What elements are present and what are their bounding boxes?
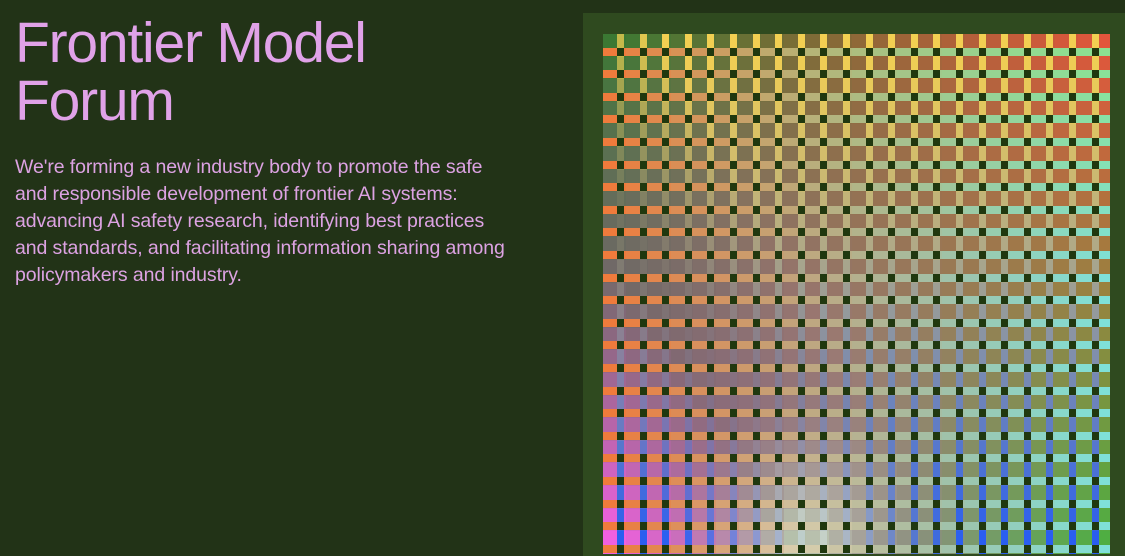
weave-horizontal-stripe — [1100, 93, 1110, 101]
weave-intersection — [640, 183, 647, 191]
weave-intersection — [707, 319, 714, 327]
weave-intersection — [1024, 93, 1031, 101]
weave-intersection — [640, 500, 647, 508]
weave-intersection — [730, 70, 737, 78]
weave-intersection — [1069, 70, 1076, 78]
weave-intersection — [798, 206, 805, 214]
weave-intersection — [933, 387, 940, 395]
weave-intersection — [662, 48, 669, 56]
weave-intersection — [866, 251, 873, 259]
weave-intersection — [798, 432, 805, 440]
weave-intersection — [1092, 454, 1099, 462]
weave-intersection — [979, 161, 986, 169]
weave-intersection — [775, 364, 782, 372]
weave-intersection — [1092, 477, 1099, 485]
weave-intersection — [730, 387, 737, 395]
weave-intersection — [662, 296, 669, 304]
weave-intersection — [888, 138, 895, 146]
weave-intersection — [798, 183, 805, 191]
weave-intersection — [685, 183, 692, 191]
weave-intersection — [753, 477, 760, 485]
weave-intersection — [1046, 70, 1053, 78]
weave-intersection — [662, 477, 669, 485]
weave-intersection — [640, 545, 647, 553]
weave-intersection — [640, 296, 647, 304]
hero-text-column: Frontier Model Forum We're forming a new… — [0, 0, 583, 556]
weave-intersection — [911, 409, 918, 417]
weave-intersection — [685, 387, 692, 395]
weave-intersection — [640, 387, 647, 395]
weave-intersection — [843, 545, 850, 553]
weave-intersection — [1024, 500, 1031, 508]
weave-intersection — [1001, 364, 1008, 372]
weave-intersection — [1046, 274, 1053, 282]
weave-intersection — [730, 93, 737, 101]
weave-intersection — [730, 138, 737, 146]
weave-intersection — [1024, 138, 1031, 146]
weave-intersection — [753, 341, 760, 349]
weave-intersection — [933, 319, 940, 327]
weave-intersection — [753, 251, 760, 259]
weave-intersection — [662, 364, 669, 372]
weave-intersection — [662, 319, 669, 327]
weave-intersection — [979, 48, 986, 56]
weave-intersection — [1069, 206, 1076, 214]
weave-intersection — [956, 183, 963, 191]
weave-intersection — [888, 206, 895, 214]
weave-horizontal-stripe — [1100, 432, 1110, 440]
weave-intersection — [843, 228, 850, 236]
weave-intersection — [820, 341, 827, 349]
weave-intersection — [888, 319, 895, 327]
weave-intersection — [933, 228, 940, 236]
weave-intersection — [1092, 364, 1099, 372]
weave-intersection — [820, 364, 827, 372]
weave-intersection — [662, 522, 669, 530]
page-root: Frontier Model Forum We're forming a new… — [0, 0, 1125, 556]
weave-intersection — [775, 387, 782, 395]
weave-intersection — [640, 522, 647, 530]
weave-intersection — [730, 319, 737, 327]
weave-intersection — [933, 70, 940, 78]
weave-intersection — [979, 545, 986, 553]
weave-intersection — [843, 319, 850, 327]
weave-intersection — [730, 364, 737, 372]
weave-intersection — [911, 522, 918, 530]
weave-intersection — [1046, 432, 1053, 440]
weave-intersection — [1069, 319, 1076, 327]
weave-intersection — [1092, 500, 1099, 508]
weave-horizontal-stripe — [1100, 296, 1110, 304]
weave-intersection — [1046, 409, 1053, 417]
weave-intersection — [1046, 296, 1053, 304]
weave-intersection — [843, 522, 850, 530]
weave-intersection — [888, 454, 895, 462]
weave-intersection — [1046, 522, 1053, 530]
weave-intersection — [617, 387, 624, 395]
weave-intersection — [1092, 115, 1099, 123]
weave-intersection — [820, 93, 827, 101]
weave-intersection — [640, 319, 647, 327]
weave-intersection — [1024, 364, 1031, 372]
weave-intersection — [1001, 454, 1008, 462]
weave-intersection — [956, 319, 963, 327]
weave-intersection — [617, 183, 624, 191]
weave-intersection — [730, 545, 737, 553]
weave-intersection — [911, 364, 918, 372]
weave-intersection — [775, 500, 782, 508]
weave-intersection — [617, 138, 624, 146]
weave-intersection — [979, 115, 986, 123]
weave-intersection — [1024, 296, 1031, 304]
weave-intersection — [617, 70, 624, 78]
artwork-panel — [583, 13, 1125, 556]
weave-intersection — [775, 251, 782, 259]
weave-intersection — [753, 115, 760, 123]
weave-intersection — [956, 341, 963, 349]
weave-intersection — [640, 477, 647, 485]
weave-intersection — [1024, 183, 1031, 191]
weave-intersection — [753, 319, 760, 327]
weave-intersection — [707, 228, 714, 236]
weave-intersection — [685, 409, 692, 417]
weave-intersection — [730, 522, 737, 530]
weave-intersection — [911, 387, 918, 395]
weave-intersection — [640, 409, 647, 417]
weave-horizontal-stripe — [1100, 387, 1110, 395]
weave-intersection — [1024, 522, 1031, 530]
weave-intersection — [798, 228, 805, 236]
weave-intersection — [707, 477, 714, 485]
weave-intersection — [1069, 409, 1076, 417]
weave-intersection — [730, 477, 737, 485]
weave-intersection — [1092, 409, 1099, 417]
weave-intersection — [1046, 161, 1053, 169]
weave-intersection — [1024, 251, 1031, 259]
weave-intersection — [1001, 432, 1008, 440]
weave-horizontal-stripe — [1100, 409, 1110, 417]
weave-intersection — [662, 500, 669, 508]
weave-intersection — [1069, 432, 1076, 440]
weave-intersection — [888, 364, 895, 372]
weave-intersection — [866, 432, 873, 440]
weave-intersection — [798, 251, 805, 259]
weave-intersection — [640, 228, 647, 236]
weave-intersection — [617, 364, 624, 372]
weave-intersection — [640, 70, 647, 78]
weave-intersection — [1001, 296, 1008, 304]
weave-intersection — [1092, 48, 1099, 56]
weave-intersection — [1046, 500, 1053, 508]
weave-intersection — [798, 70, 805, 78]
weave-intersection — [820, 70, 827, 78]
weave-intersection — [979, 251, 986, 259]
weave-intersection — [979, 274, 986, 282]
weave-intersection — [685, 545, 692, 553]
weave-intersection — [730, 409, 737, 417]
weave-intersection — [956, 161, 963, 169]
weave-intersection — [775, 48, 782, 56]
weave-intersection — [866, 364, 873, 372]
weave-intersection — [956, 545, 963, 553]
weave-intersection — [685, 48, 692, 56]
weave-intersection — [1092, 522, 1099, 530]
weave-intersection — [753, 183, 760, 191]
weave-intersection — [843, 93, 850, 101]
weave-intersection — [933, 183, 940, 191]
weave-intersection — [640, 251, 647, 259]
weave-intersection — [933, 274, 940, 282]
weave-intersection — [707, 522, 714, 530]
weave-intersection — [1001, 251, 1008, 259]
weave-intersection — [1001, 409, 1008, 417]
weave-intersection — [1001, 70, 1008, 78]
weave-intersection — [798, 93, 805, 101]
weave-intersection — [1024, 274, 1031, 282]
weave-intersection — [888, 183, 895, 191]
weave-intersection — [730, 500, 737, 508]
weave-intersection — [888, 228, 895, 236]
weave-intersection — [662, 206, 669, 214]
weave-intersection — [1069, 183, 1076, 191]
weave-intersection — [640, 161, 647, 169]
weave-intersection — [775, 319, 782, 327]
weave-intersection — [956, 206, 963, 214]
weave-intersection — [866, 206, 873, 214]
weave-intersection — [820, 454, 827, 462]
weave-intersection — [820, 251, 827, 259]
weave-intersection — [888, 251, 895, 259]
weave-intersection — [617, 206, 624, 214]
weave-intersection — [820, 183, 827, 191]
weave-intersection — [888, 296, 895, 304]
weave-intersection — [640, 454, 647, 462]
weave-intersection — [775, 206, 782, 214]
weave-intersection — [707, 545, 714, 553]
weave-intersection — [1069, 274, 1076, 282]
weave-intersection — [662, 183, 669, 191]
weave-intersection — [1046, 387, 1053, 395]
weave-intersection — [1069, 48, 1076, 56]
weave-intersection — [685, 251, 692, 259]
weave-intersection — [753, 500, 760, 508]
weave-intersection — [888, 161, 895, 169]
weave-intersection — [707, 206, 714, 214]
weave-intersection — [956, 500, 963, 508]
weave-intersection — [843, 206, 850, 214]
weave-intersection — [1046, 228, 1053, 236]
weave-horizontal-stripe — [1100, 341, 1110, 349]
weave-intersection — [1069, 251, 1076, 259]
weave-intersection — [1092, 274, 1099, 282]
weave-intersection — [1092, 138, 1099, 146]
weave-intersection — [956, 70, 963, 78]
weave-intersection — [798, 545, 805, 553]
weave-intersection — [707, 500, 714, 508]
weave-intersection — [956, 409, 963, 417]
weave-intersection — [866, 454, 873, 462]
weave-intersection — [685, 93, 692, 101]
weave-intersection — [956, 274, 963, 282]
weave-intersection — [662, 70, 669, 78]
weave-horizontal-stripe — [1100, 251, 1110, 259]
weave-intersection — [640, 432, 647, 440]
weave-intersection — [662, 409, 669, 417]
weave-intersection — [1046, 138, 1053, 146]
weave-intersection — [685, 500, 692, 508]
weave-intersection — [775, 70, 782, 78]
weave-intersection — [933, 522, 940, 530]
weave-intersection — [685, 70, 692, 78]
weave-intersection — [617, 115, 624, 123]
weave-horizontal-stripe — [1100, 522, 1110, 530]
weave-intersection — [1092, 228, 1099, 236]
weave-intersection — [820, 409, 827, 417]
weave-intersection — [775, 296, 782, 304]
weave-intersection — [843, 115, 850, 123]
weave-horizontal-stripe — [1100, 183, 1110, 191]
weave-intersection — [1001, 477, 1008, 485]
weave-intersection — [979, 477, 986, 485]
weave-intersection — [1001, 138, 1008, 146]
weave-intersection — [820, 228, 827, 236]
weave-intersection — [820, 477, 827, 485]
weave-intersection — [1069, 364, 1076, 372]
weave-intersection — [730, 251, 737, 259]
weave-intersection — [617, 545, 624, 553]
weave-intersection — [1024, 432, 1031, 440]
weave-intersection — [753, 545, 760, 553]
weave-intersection — [820, 115, 827, 123]
weave-intersection — [956, 138, 963, 146]
weave-intersection — [979, 183, 986, 191]
weave-intersection — [798, 409, 805, 417]
weave-intersection — [753, 161, 760, 169]
weave-intersection — [888, 477, 895, 485]
weave-intersection — [662, 115, 669, 123]
weave-intersection — [617, 432, 624, 440]
weave-intersection — [753, 454, 760, 462]
weave-intersection — [1046, 93, 1053, 101]
weave-intersection — [956, 251, 963, 259]
weave-intersection — [979, 454, 986, 462]
weave-intersection — [798, 296, 805, 304]
weave-intersection — [979, 319, 986, 327]
weave-intersection — [662, 432, 669, 440]
weave-intersection — [911, 454, 918, 462]
weave-intersection — [617, 341, 624, 349]
weave-intersection — [775, 341, 782, 349]
weave-intersection — [640, 341, 647, 349]
weave-intersection — [730, 274, 737, 282]
weave-intersection — [685, 115, 692, 123]
weave-intersection — [911, 228, 918, 236]
weave-intersection — [911, 296, 918, 304]
weave-intersection — [1092, 70, 1099, 78]
weave-intersection — [1069, 138, 1076, 146]
weave-horizontal-stripe — [1100, 48, 1110, 56]
weave-intersection — [933, 296, 940, 304]
weave-intersection — [820, 296, 827, 304]
weave-intersection — [933, 545, 940, 553]
weave-intersection — [662, 454, 669, 462]
weave-intersection — [1001, 500, 1008, 508]
weave-intersection — [707, 161, 714, 169]
weave-intersection — [685, 228, 692, 236]
weave-intersection — [730, 228, 737, 236]
weave-intersection — [820, 274, 827, 282]
weave-intersection — [798, 161, 805, 169]
weave-intersection — [775, 477, 782, 485]
weave-intersection — [911, 115, 918, 123]
weave-intersection — [979, 93, 986, 101]
weave-intersection — [866, 319, 873, 327]
weave-intersection — [956, 364, 963, 372]
weave-intersection — [820, 48, 827, 56]
weave-intersection — [911, 138, 918, 146]
weave-intersection — [888, 500, 895, 508]
weave-intersection — [617, 228, 624, 236]
weave-intersection — [866, 341, 873, 349]
weave-horizontal-stripe — [1100, 274, 1110, 282]
weave-intersection — [662, 138, 669, 146]
weave-intersection — [707, 364, 714, 372]
weave-intersection — [730, 183, 737, 191]
weave-horizontal-stripe — [1100, 138, 1110, 146]
weave-intersection — [685, 432, 692, 440]
weave-intersection — [640, 93, 647, 101]
weave-intersection — [979, 296, 986, 304]
weave-intersection — [843, 70, 850, 78]
weave-horizontal-stripe — [1100, 364, 1110, 372]
weave-intersection — [617, 522, 624, 530]
weave-intersection — [1092, 319, 1099, 327]
weave-intersection — [1046, 251, 1053, 259]
weave-intersection — [617, 319, 624, 327]
weave-intersection — [888, 115, 895, 123]
weave-intersection — [911, 183, 918, 191]
weave-intersection — [911, 48, 918, 56]
weave-intersection — [1024, 454, 1031, 462]
weave-intersection — [1024, 387, 1031, 395]
weave-intersection — [798, 364, 805, 372]
weave-intersection — [933, 500, 940, 508]
weave-intersection — [1092, 161, 1099, 169]
weave-intersection — [775, 274, 782, 282]
weave-intersection — [617, 251, 624, 259]
weave-intersection — [1069, 500, 1076, 508]
weave-horizontal-stripe — [1100, 70, 1110, 78]
weave-intersection — [843, 477, 850, 485]
weave-intersection — [685, 341, 692, 349]
weave-intersection — [775, 183, 782, 191]
weave-horizontal-stripe — [1100, 161, 1110, 169]
weave-intersection — [730, 161, 737, 169]
weave-intersection — [933, 115, 940, 123]
weave-intersection — [866, 183, 873, 191]
weave-intersection — [888, 341, 895, 349]
weave-intersection — [1046, 206, 1053, 214]
weave-intersection — [866, 48, 873, 56]
weave-intersection — [753, 138, 760, 146]
weave-intersection — [1046, 319, 1053, 327]
weave-intersection — [843, 341, 850, 349]
weave-intersection — [662, 161, 669, 169]
weave-intersection — [866, 93, 873, 101]
weave-intersection — [979, 500, 986, 508]
weave-horizontal-stripe — [1100, 477, 1110, 485]
weave-intersection — [1024, 70, 1031, 78]
